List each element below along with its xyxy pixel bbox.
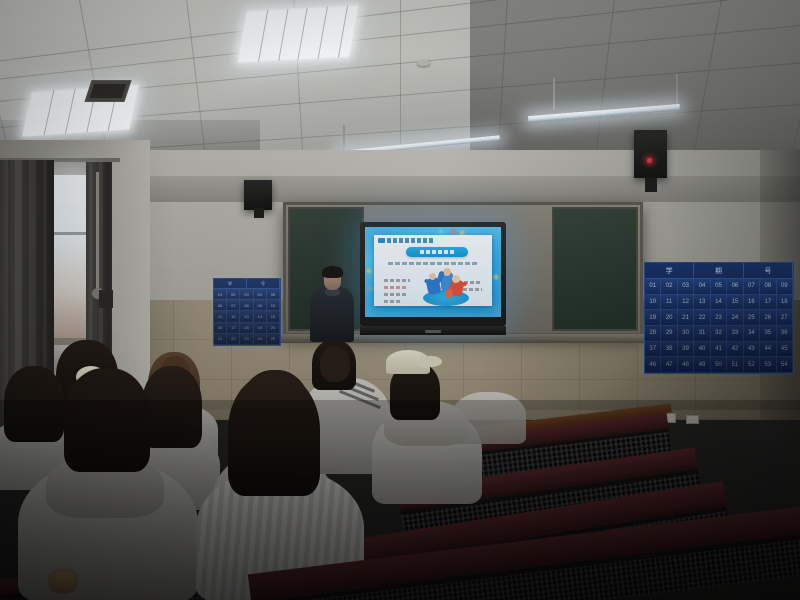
number-board-cell[interactable]: 10: [645, 295, 661, 310]
number-board-cell[interactable]: 06: [214, 300, 227, 310]
number-board-cell[interactable]: 11: [214, 311, 227, 321]
number-board-cell[interactable]: 39: [678, 342, 694, 357]
recessed-louver-panel-right: [238, 5, 358, 63]
number-board-cell[interactable]: 13: [240, 311, 253, 321]
number-board-cell[interactable]: 37: [645, 342, 661, 357]
number-board-cell[interactable]: 19: [254, 323, 267, 333]
smoke-detector: [417, 60, 430, 66]
number-board-cell[interactable]: 14: [254, 311, 267, 321]
classroom-photo: 学期号 010203040506070809101112131415161718…: [0, 0, 800, 600]
number-board-row: 2122232425: [214, 334, 280, 345]
number-board-cell[interactable]: 12: [227, 311, 240, 321]
speaker-power-led: [647, 158, 652, 163]
number-board-cell[interactable]: 54: [777, 357, 793, 372]
wall-speaker-left: [244, 180, 272, 210]
number-board-cell[interactable]: 05: [267, 289, 280, 299]
number-board-cell[interactable]: 16: [744, 295, 760, 310]
number-board-row: 1617181920: [214, 323, 280, 334]
number-board-cell[interactable]: 17: [760, 295, 776, 310]
number-board-cell[interactable]: 28: [645, 326, 661, 341]
number-board-cell[interactable]: 33: [727, 326, 743, 341]
number-board-cell[interactable]: 34: [744, 326, 760, 341]
number-board-cell[interactable]: 19: [645, 310, 661, 325]
number-board-cell[interactable]: 03: [240, 289, 253, 299]
number-board-cell[interactable]: 21: [678, 310, 694, 325]
number-board-header-row: 学期号: [645, 263, 793, 279]
cap-brim: [420, 356, 442, 367]
number-board-cell[interactable]: 02: [227, 289, 240, 299]
display-brand-logo: [425, 330, 441, 333]
number-board-cell[interactable]: 25: [744, 310, 760, 325]
chalkboard-panel-right[interactable]: [552, 207, 638, 331]
number-board-cell[interactable]: 11: [661, 295, 677, 310]
number-board-cell[interactable]: 22: [227, 334, 240, 344]
number-board-row: 192021222324252627: [645, 310, 793, 326]
number-board-cell[interactable]: 46: [645, 357, 661, 372]
number-board-cell[interactable]: 31: [694, 326, 710, 341]
window-mullion: [52, 232, 86, 235]
number-board-cell[interactable]: 43: [744, 342, 760, 357]
number-board-cell[interactable]: 15: [267, 311, 280, 321]
number-board-header-cell: 号: [744, 263, 793, 278]
number-board-row: 464748495051525354: [645, 357, 793, 373]
number-board-cell[interactable]: 42: [727, 342, 743, 357]
wall-camera: [99, 290, 113, 308]
number-board-row: 1112131415: [214, 311, 280, 322]
window: [52, 175, 86, 345]
number-board-cell[interactable]: 36: [777, 326, 793, 341]
number-board-cell[interactable]: 10: [267, 300, 280, 310]
seating-number-board-left[interactable]: 学号 0102030405060708091011121314151617181…: [213, 278, 281, 346]
number-board-cell[interactable]: 47: [661, 357, 677, 372]
number-board-cell[interactable]: 23: [240, 334, 253, 344]
number-board-cell[interactable]: 38: [661, 342, 677, 357]
number-board-cell[interactable]: 30: [678, 326, 694, 341]
wall-conduit: [96, 172, 99, 292]
number-board-cell[interactable]: 04: [254, 289, 267, 299]
number-board-cell[interactable]: 21: [214, 334, 227, 344]
number-board-header-cell: 号: [247, 279, 280, 288]
number-board-header-cell: 学: [645, 263, 694, 278]
number-board-cell[interactable]: 41: [711, 342, 727, 357]
number-board-cell[interactable]: 16: [214, 323, 227, 333]
number-board-cell[interactable]: 02: [661, 279, 677, 294]
number-board-row: 0607080910: [214, 300, 280, 311]
number-board-cell[interactable]: 09: [254, 300, 267, 310]
number-board-cell[interactable]: 45: [777, 342, 793, 357]
number-board-cell[interactable]: 03: [678, 279, 694, 294]
number-board-cell[interactable]: 32: [711, 326, 727, 341]
display-screen[interactable]: [365, 227, 501, 317]
number-board-row: 282930313233343536: [645, 326, 793, 342]
number-board-cell[interactable]: 24: [727, 310, 743, 325]
number-board-cell[interactable]: 23: [711, 310, 727, 325]
number-board-cell[interactable]: 24: [254, 334, 267, 344]
number-board-cell[interactable]: 44: [760, 342, 776, 357]
number-board-cell[interactable]: 01: [214, 289, 227, 299]
number-board-header-cell: 学: [214, 279, 247, 288]
number-board-cell[interactable]: 27: [777, 310, 793, 325]
number-board-header-row: 学号: [214, 279, 280, 289]
number-board-cell[interactable]: 13: [694, 295, 710, 310]
interactive-flat-panel-display[interactable]: [360, 222, 506, 326]
wall-socket-b[interactable]: [686, 415, 699, 424]
ceiling-access-panel: [84, 80, 131, 102]
number-board-cell[interactable]: 15: [727, 295, 743, 310]
number-board-cell[interactable]: 20: [661, 310, 677, 325]
number-board-cell[interactable]: 14: [711, 295, 727, 310]
number-board-row: 010203040506070809: [645, 279, 793, 295]
number-board-row: 101112131415161718: [645, 295, 793, 311]
number-board-cell[interactable]: 17: [227, 323, 240, 333]
number-board-cell[interactable]: 06: [727, 279, 743, 294]
number-board-cell[interactable]: 22: [694, 310, 710, 325]
number-board-cell[interactable]: 08: [240, 300, 253, 310]
number-board-cell[interactable]: 08: [760, 279, 776, 294]
number-board-cell[interactable]: 25: [267, 334, 280, 344]
number-board-cell[interactable]: 53: [760, 357, 776, 372]
number-board-cell[interactable]: 29: [661, 326, 677, 341]
wall-speaker-right: [634, 130, 667, 178]
number-board-cell[interactable]: 35: [760, 326, 776, 341]
number-board-cell[interactable]: 51: [727, 357, 743, 372]
number-board-header-cell: 期: [694, 263, 743, 278]
number-board-row: 373839404142434445: [645, 342, 793, 358]
number-board-row: 0102030405: [214, 289, 280, 300]
number-board-cell[interactable]: 52: [744, 357, 760, 372]
number-board-cell[interactable]: 20: [267, 323, 280, 333]
number-board-cell[interactable]: 40: [694, 342, 710, 357]
number-board-cell[interactable]: 48: [678, 357, 694, 372]
number-board-cell[interactable]: 49: [694, 357, 710, 372]
number-board-cell[interactable]: 18: [240, 323, 253, 333]
seating-number-board-right[interactable]: 学期号 010203040506070809101112131415161718…: [644, 262, 794, 374]
number-board-cell[interactable]: 18: [777, 295, 793, 310]
number-board-cell[interactable]: 01: [645, 279, 661, 294]
number-board-cell[interactable]: 05: [711, 279, 727, 294]
number-board-cell[interactable]: 09: [777, 279, 793, 294]
number-board-cell[interactable]: 07: [227, 300, 240, 310]
number-board-cell[interactable]: 07: [744, 279, 760, 294]
number-board-cell[interactable]: 26: [760, 310, 776, 325]
snack-item: [56, 572, 74, 588]
teacher-hair: [322, 266, 343, 278]
number-board-cell[interactable]: 04: [694, 279, 710, 294]
number-board-cell[interactable]: 50: [711, 357, 727, 372]
number-board-cell[interactable]: 12: [678, 295, 694, 310]
